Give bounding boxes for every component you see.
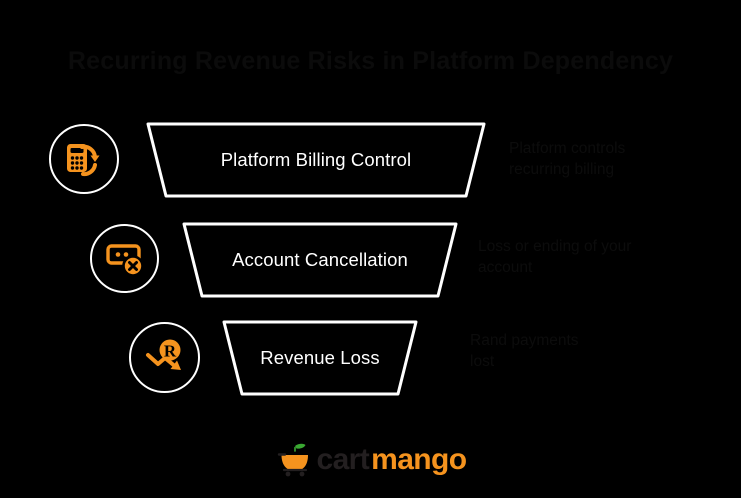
brand-logo: cart mango <box>0 440 741 480</box>
funnel-stage-2[interactable]: Account Cancellation <box>176 220 464 300</box>
mango-cart-icon <box>275 440 315 480</box>
funnel-row: R Revenue Loss Rand payments lost <box>0 312 741 404</box>
slide-canvas: Recurring Revenue Risks in Platform Depe… <box>0 0 741 498</box>
svg-text:R: R <box>163 341 176 360</box>
calculator-recurring-icon <box>49 124 119 194</box>
logo-text-cart: cart <box>317 443 370 477</box>
funnel-stage-description: Rand payments lost <box>470 330 670 372</box>
funnel-stage-3[interactable]: Revenue Loss <box>216 318 424 398</box>
logo-text-mango: mango <box>371 443 466 477</box>
funnel-row: Account Cancellation Loss or ending of y… <box>0 216 741 308</box>
funnel-stage-description: Platform controls recurring billing <box>509 138 709 180</box>
funnel-diagram: Platform Billing Control Platform contro… <box>0 110 741 410</box>
funnel-stage-1[interactable]: Platform Billing Control <box>140 120 492 200</box>
card-cancel-icon <box>90 224 159 293</box>
revenue-decline-rand-icon: R <box>129 322 200 393</box>
page-title: Recurring Revenue Risks in Platform Depe… <box>0 44 741 78</box>
funnel-stage-description: Loss or ending of your account <box>478 236 678 278</box>
funnel-row: Platform Billing Control Platform contro… <box>0 120 741 212</box>
